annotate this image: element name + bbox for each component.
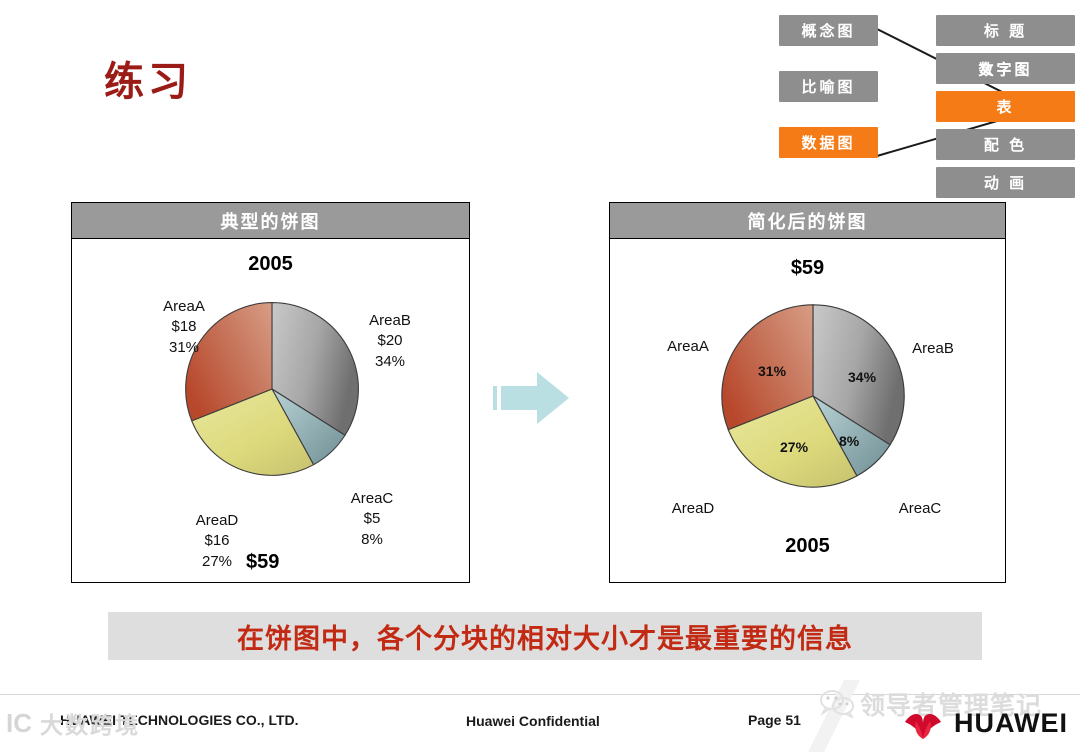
chart-panel-typical: 典型的饼图 2005 (71, 202, 470, 583)
pie-label-areaB: AreaB (912, 339, 954, 359)
panel-header-simplified: 简化后的饼图 (610, 203, 1005, 239)
nav-item-text-diagram[interactable]: 文字图 数字图 (936, 53, 1075, 84)
footer-confidentiality-notice: Huawei Confidential (466, 713, 600, 729)
huawei-flower-icon (900, 706, 946, 740)
nav-item-label: 配 色 (984, 134, 1027, 155)
navigation-map: 概念图 比喻图 数据图 标 题 文字图 数字图 表 配 色 动 画 (776, 8, 1076, 200)
nav-item-table[interactable]: 表 (936, 91, 1075, 122)
huawei-logo: HUAWEI (900, 706, 1068, 740)
page-title: 练习 (104, 58, 192, 106)
pie-label-areaC: AreaC $5 8% (351, 489, 394, 550)
chart-panel-simplified: 简化后的饼图 $59 31% 34% 8% 27% AreaA AreaB Ar… (609, 202, 1006, 583)
pie-label-areaA: AreaA (667, 337, 709, 357)
footer-divider (0, 694, 1080, 695)
pie-svg (718, 301, 908, 491)
pie-label-value: $5 (351, 509, 394, 529)
pie-label-pct: 34% (369, 352, 411, 372)
flow-arrow-icon (485, 358, 585, 438)
pie-chart-typical (182, 299, 362, 479)
pie-label-name: AreaB (369, 311, 411, 331)
panel-header-typical: 典型的饼图 (72, 203, 469, 239)
panel-title: 简化后的饼图 (748, 208, 868, 234)
pie-label-name: AreaC (351, 489, 394, 509)
panel-body-typical: 2005 (72, 239, 469, 582)
pie-label-name: AreaD (196, 511, 239, 531)
nav-item-label: 比喻图 (801, 76, 855, 97)
pie-label-areaB: AreaB $20 34% (369, 311, 411, 372)
huawei-wordmark: HUAWEI (954, 708, 1068, 739)
footer-page-number: Page 51 (748, 712, 801, 728)
pie-label-value: $16 (196, 531, 239, 551)
watermark-slash-decoration (800, 680, 860, 752)
nav-item-label: 表 (996, 96, 1014, 117)
caption-text: 在饼图中，各个分块的相对大小才是最重要的信息 (237, 617, 853, 656)
footer-company-name: HUAWEI TECHNOLOGIES CO., LTD. (60, 712, 299, 728)
chart-year-label: 2005 (72, 253, 469, 276)
arrow-right-icon (485, 358, 585, 438)
pie-chart-simplified (718, 301, 908, 491)
pie-label-value: $20 (369, 331, 411, 351)
pie-inner-pct-areaC: 8% (839, 433, 859, 449)
pie-label-value: $18 (163, 317, 205, 337)
chart-year-label: 2005 (610, 535, 1005, 558)
nav-item-overlapping-labels: 文字图 数字图 (936, 53, 1075, 84)
nav-item-animation[interactable]: 动 画 (936, 167, 1075, 198)
nav-item-label: 标 题 (984, 20, 1027, 41)
nav-item-label: 概念图 (801, 20, 855, 41)
chart-total-badge: $59 (246, 551, 279, 574)
nav-item-data-diagram[interactable]: 数据图 (779, 127, 878, 158)
pie-inner-pct-areaA: 31% (758, 363, 786, 379)
pie-label-areaC: AreaC (899, 499, 942, 519)
pie-label-pct: 8% (351, 530, 394, 550)
slide-canvas: 练习 概念图 比喻图 数据图 标 题 文字图 数字图 表 配 色 (0, 0, 1080, 752)
pie-label-areaD: AreaD $16 27% (196, 511, 239, 572)
nav-item-color-scheme[interactable]: 配 色 (936, 129, 1075, 160)
nav-item-label: 动 画 (984, 172, 1027, 193)
pie-label-name: AreaA (163, 297, 205, 317)
pie-inner-pct-areaB: 34% (848, 369, 876, 385)
nav-item-metaphor-diagram[interactable]: 比喻图 (779, 71, 878, 102)
panel-body-simplified: $59 31% 34% 8% 27% AreaA AreaB AreaC Are… (610, 239, 1005, 582)
caption-banner: 在饼图中，各个分块的相对大小才是最重要的信息 (108, 612, 982, 660)
pie-label-pct: 31% (163, 338, 205, 358)
pie-label-areaD: AreaD (672, 499, 715, 519)
pie-label-areaA: AreaA $18 31% (163, 297, 205, 358)
slash-shape (800, 680, 860, 752)
nav-item-label: 数据图 (801, 132, 855, 153)
pie-svg (182, 299, 362, 479)
chart-total-label: $59 (610, 257, 1005, 280)
pie-label-pct: 27% (196, 552, 239, 572)
nav-item-label-overlay: 数字图 (936, 58, 1075, 79)
pie-inner-pct-areaD: 27% (780, 439, 808, 455)
nav-item-title[interactable]: 标 题 (936, 15, 1075, 46)
nav-item-concept-diagram[interactable]: 概念图 (779, 15, 878, 46)
panel-title: 典型的饼图 (221, 208, 321, 234)
